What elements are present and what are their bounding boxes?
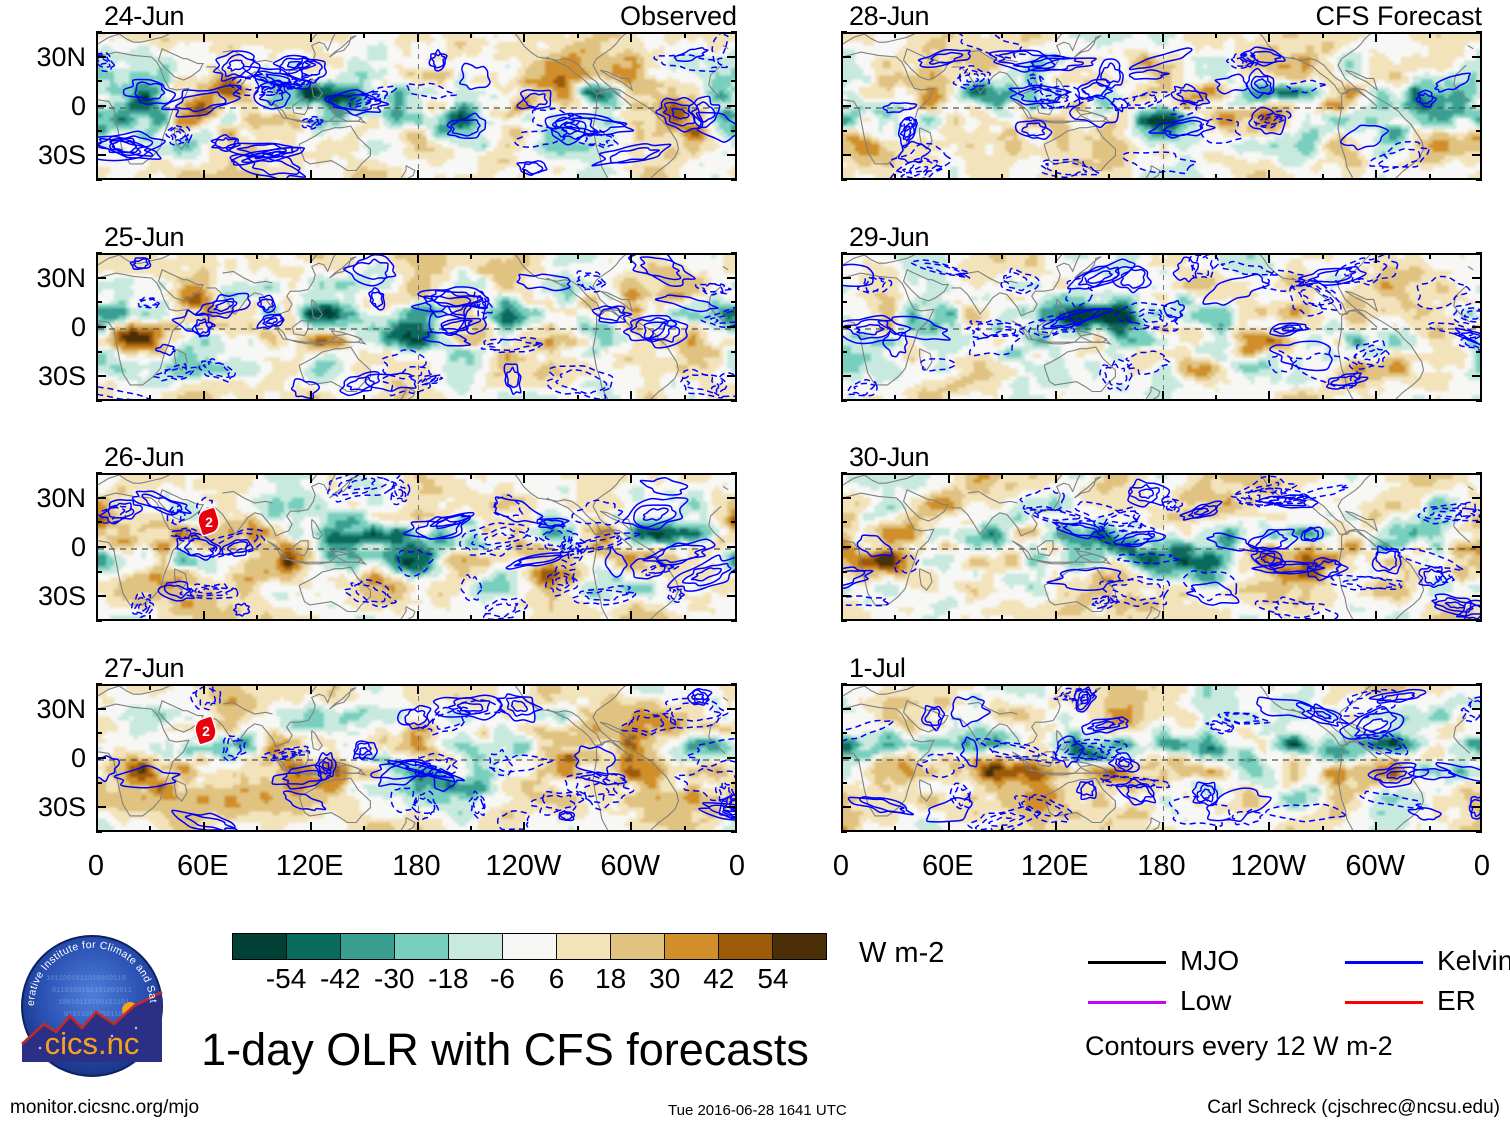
kelvin-contour <box>415 797 435 813</box>
x-axis-tick <box>1001 473 1003 479</box>
x-axis-tick <box>948 170 950 180</box>
x-axis-tick <box>470 473 472 479</box>
kelvin-contour <box>1256 113 1282 126</box>
coastline <box>223 271 273 283</box>
kelvin-contour <box>223 736 246 761</box>
x-axis-tick <box>363 32 365 38</box>
y-axis-tick <box>841 105 851 107</box>
y-axis-tick <box>1472 757 1482 759</box>
kelvin-contour <box>507 697 534 716</box>
logo-wordmark: cics.nc <box>45 1026 140 1061</box>
kelvin-contour <box>98 58 107 64</box>
kelvin-contour <box>1203 274 1269 305</box>
x-axis-tick <box>841 32 843 42</box>
footer-timestamp: Tue 2016-06-28 1641 UTC <box>668 1101 847 1120</box>
y-axis-tick <box>731 521 737 523</box>
x-axis-tick <box>1429 473 1431 479</box>
kelvin-contour <box>1379 149 1420 167</box>
x-axis-tick <box>1162 822 1164 832</box>
y-axis-tick <box>841 757 851 759</box>
x-axis-tick <box>1108 615 1110 621</box>
kelvin-contour <box>1022 797 1063 816</box>
y-axis-tick <box>96 708 106 710</box>
x-axis-tick <box>1108 826 1110 832</box>
y-axis-tick <box>727 375 737 377</box>
y-axis-tick <box>1472 154 1482 156</box>
x-axis-tick <box>149 684 151 690</box>
y-axis-tick <box>841 782 847 784</box>
kelvin-contour <box>1287 80 1326 92</box>
y-axis-label: 0 <box>0 745 86 772</box>
x-axis-tick <box>256 473 258 479</box>
y-axis-tick <box>841 351 847 353</box>
kelvin-contour <box>165 585 191 598</box>
x-axis-tick <box>470 395 472 401</box>
contour-interval-note: Contours every 12 W m-2 <box>1085 1033 1393 1060</box>
x-axis-tick <box>1375 822 1377 832</box>
coastline <box>1012 752 1110 775</box>
coastline <box>98 34 728 49</box>
footer-author: Carl Schreck (cjschrec@ncsu.edu) <box>1207 1098 1500 1117</box>
x-axis-tick <box>630 611 632 621</box>
x-axis-tick <box>1322 395 1324 401</box>
kelvin-contour <box>284 791 326 810</box>
map-panel <box>841 684 1482 832</box>
y-axis-tick <box>841 130 847 132</box>
kelvin-contour <box>1197 785 1214 802</box>
y-axis-tick <box>96 56 106 58</box>
x-axis-tick <box>577 684 579 690</box>
kelvin-contour <box>953 66 990 90</box>
x-axis-tick <box>684 615 686 621</box>
kelvin-contour <box>191 686 221 710</box>
x-axis-tick <box>417 253 419 263</box>
x-axis-tick <box>1162 611 1164 621</box>
y-axis-tick <box>727 497 737 499</box>
kelvin-contour <box>1387 771 1406 778</box>
x-axis-tick <box>96 684 98 694</box>
x-axis-tick <box>256 826 258 832</box>
kelvin-contour <box>1435 73 1470 92</box>
x-axis-tick <box>1001 395 1003 401</box>
kelvin-contour <box>360 748 369 755</box>
x-axis-tick <box>684 395 686 401</box>
coastline <box>904 270 949 301</box>
x-axis-tick <box>894 615 896 621</box>
kelvin-contour <box>687 738 737 767</box>
y-axis-tick <box>96 375 106 377</box>
kelvin-contour <box>1102 511 1136 533</box>
x-axis-tick <box>948 473 950 483</box>
column-header-observed: Observed <box>620 3 737 30</box>
x-axis-tick <box>894 253 896 259</box>
colorbar-band <box>395 934 449 959</box>
kelvin-contour <box>656 98 703 132</box>
coastline <box>98 686 728 701</box>
kelvin-contour <box>451 120 480 136</box>
x-axis-tick <box>310 253 312 263</box>
x-axis-tick <box>1215 826 1217 832</box>
kelvin-contour <box>1139 489 1153 498</box>
x-axis-tick <box>363 684 365 690</box>
kelvin-contour <box>405 709 427 724</box>
kelvin-contour <box>1417 276 1470 308</box>
x-axis-tick <box>630 473 632 483</box>
y-axis-label: 30S <box>0 583 86 610</box>
kelvin-contour <box>1127 94 1157 105</box>
y-axis-tick <box>1472 595 1482 597</box>
legend-label-mjo: MJO <box>1180 947 1239 975</box>
colorbar-tick-label: -6 <box>490 965 515 993</box>
x-axis-tick <box>1162 253 1164 263</box>
footer-url[interactable]: monitor.cicsnc.org/mjo <box>10 1098 199 1117</box>
y-axis-tick <box>1476 732 1482 734</box>
x-axis-tick <box>363 253 365 259</box>
coastline <box>159 49 204 80</box>
y-axis-tick <box>96 351 102 353</box>
x-axis-tick <box>1375 170 1377 180</box>
coastline <box>1037 541 1053 556</box>
x-axis-tick <box>1480 391 1482 401</box>
colorbar-band <box>665 934 719 959</box>
panel-date-label: 29-Jun <box>849 224 929 251</box>
panel-date-label: 24-Jun <box>104 3 184 30</box>
kelvin-contour <box>1263 116 1278 123</box>
x-axis-tick <box>1001 174 1003 180</box>
x-axis-tick <box>310 611 312 621</box>
y-axis-tick <box>841 154 851 156</box>
legend-swatch-mjo <box>1088 961 1166 964</box>
x-axis-tick <box>1375 253 1377 263</box>
y-axis-label: 30S <box>0 142 86 169</box>
y-axis-tick <box>1472 105 1482 107</box>
kelvin-contour <box>961 737 978 767</box>
kelvin-contour <box>672 109 689 119</box>
x-axis-tick <box>1322 473 1324 479</box>
x-axis-tick <box>894 174 896 180</box>
x-axis-tick <box>735 473 737 483</box>
x-axis-tick <box>1480 170 1482 180</box>
x-axis-tick <box>1215 395 1217 401</box>
kelvin-contour <box>878 316 950 340</box>
map-panel <box>841 253 1482 401</box>
coastline <box>299 347 370 391</box>
y-axis-tick <box>841 277 851 279</box>
kelvin-contour <box>1263 270 1307 291</box>
map-overlay <box>98 34 737 180</box>
kelvin-contour <box>266 318 277 324</box>
kelvin-contour <box>123 79 175 104</box>
coastline <box>1345 291 1377 311</box>
y-axis-tick <box>731 732 737 734</box>
coastline <box>904 490 949 521</box>
kelvin-contour <box>490 755 553 772</box>
x-axis-tick <box>1215 32 1217 38</box>
kelvin-contour <box>1130 48 1192 69</box>
y-axis-tick <box>96 521 102 523</box>
svg-text:0110100101101001011: 0110100101101001011 <box>52 987 132 995</box>
kelvin-contour <box>853 383 874 395</box>
y-axis-label: 30S <box>0 794 86 821</box>
kelvin-contour <box>1121 270 1145 288</box>
x-axis-tick <box>310 473 312 483</box>
kelvin-contour <box>951 697 990 727</box>
kelvin-contour <box>398 550 433 576</box>
x-axis-tick <box>523 253 525 263</box>
y-axis-tick <box>1476 130 1482 132</box>
kelvin-contour <box>655 295 718 311</box>
y-axis-tick <box>731 351 737 353</box>
x-axis-tick <box>948 391 950 401</box>
x-axis-tick <box>1322 174 1324 180</box>
x-axis-tick <box>1375 684 1377 694</box>
colorbar-band <box>557 934 611 959</box>
x-axis-tick <box>1055 473 1057 483</box>
coastline <box>1338 529 1424 621</box>
x-axis-tick <box>310 822 312 832</box>
x-axis-tick <box>523 611 525 621</box>
colorbar-tick-label: 6 <box>549 965 565 993</box>
coastline <box>98 475 728 490</box>
x-axis-tick <box>894 32 896 38</box>
coastline <box>843 686 1473 701</box>
coastline <box>292 541 308 556</box>
x-axis-tick <box>203 822 205 832</box>
kelvin-contour <box>1360 791 1424 809</box>
kelvin-contour <box>1065 743 1115 758</box>
kelvin-contour <box>1408 808 1441 820</box>
y-axis-tick <box>1472 326 1482 328</box>
x-axis-tick <box>1429 615 1431 621</box>
y-axis-tick <box>841 375 851 377</box>
column-header-forecast: CFS Forecast <box>1315 3 1482 30</box>
x-axis-tick <box>1001 615 1003 621</box>
kelvin-contour <box>1341 125 1389 149</box>
kelvin-contour <box>485 533 514 545</box>
kelvin-contour <box>139 602 147 611</box>
kelvin-contour <box>1307 708 1338 723</box>
kelvin-contour <box>517 274 570 290</box>
x-axis-tick <box>1215 684 1217 690</box>
kelvin-contour <box>640 257 680 280</box>
x-axis-tick <box>310 684 312 694</box>
x-axis-tick <box>1108 473 1110 479</box>
y-axis-tick <box>1476 782 1482 784</box>
colorbar-band <box>287 934 341 959</box>
x-axis-tick <box>577 826 579 832</box>
colorbar-tick-label: 42 <box>703 965 734 993</box>
kelvin-contour <box>643 508 668 520</box>
colorbar-tick-label: -54 <box>266 965 306 993</box>
x-axis-tick <box>1268 170 1270 180</box>
kelvin-contour <box>1261 555 1274 564</box>
coastline <box>312 730 323 750</box>
x-axis-tick <box>523 684 525 694</box>
y-axis-tick <box>1472 497 1482 499</box>
coastline <box>1012 321 1110 344</box>
y-axis-label: 0 <box>0 534 86 561</box>
coastline <box>1140 387 1160 401</box>
x-axis-tick <box>1268 391 1270 401</box>
y-axis-label: 0 <box>0 314 86 341</box>
kelvin-contour <box>1436 763 1482 781</box>
panel-date-label: 27-Jun <box>104 655 184 682</box>
y-axis-tick <box>731 571 737 573</box>
kelvin-contour <box>416 520 460 540</box>
kelvin-contour <box>1201 789 1211 798</box>
y-axis-tick <box>841 326 851 328</box>
x-axis-tick <box>310 32 312 42</box>
x-axis-tick <box>735 391 737 401</box>
coastline <box>312 299 323 319</box>
kelvin-contour <box>512 701 528 712</box>
tropical-cyclone-category: 2 <box>201 723 209 739</box>
kelvin-contour <box>1255 79 1268 88</box>
coastline <box>395 607 415 621</box>
x-axis-tick <box>149 473 151 479</box>
kelvin-contour <box>1081 782 1094 795</box>
coastline <box>952 255 1086 316</box>
kelvin-contour <box>556 576 568 586</box>
y-axis-tick <box>841 708 851 710</box>
kelvin-contour <box>1465 311 1482 319</box>
y-axis-tick <box>727 326 737 328</box>
kelvin-contour <box>1127 309 1177 327</box>
x-axis-tick <box>1162 473 1164 483</box>
legend-swatch-kelvin <box>1345 961 1423 964</box>
legend-swatch-low <box>1088 1001 1166 1004</box>
colorbar-band <box>503 934 557 959</box>
y-axis-tick <box>841 301 847 303</box>
x-axis-tick <box>1001 826 1003 832</box>
kelvin-contour <box>1221 261 1277 275</box>
coastline <box>1012 541 1110 564</box>
kelvin-contour <box>1096 521 1154 544</box>
kelvin-contour <box>654 55 727 72</box>
colorbar-band <box>449 934 503 959</box>
y-axis-tick <box>96 497 106 499</box>
x-axis-tick <box>256 395 258 401</box>
kelvin-contour <box>261 746 309 760</box>
y-axis-tick <box>841 56 851 58</box>
kelvin-contour <box>1215 74 1248 93</box>
x-axis-tick <box>1055 253 1057 263</box>
kelvin-contour <box>546 566 578 596</box>
x-axis-tick <box>1375 391 1377 401</box>
x-axis-tick <box>1108 174 1110 180</box>
svg-text:10010110100101101: 10010110100101101 <box>58 999 129 1007</box>
x-axis-tick <box>1480 822 1482 832</box>
x-axis-tick <box>256 684 258 690</box>
x-axis-tick <box>149 615 151 621</box>
x-axis-tick <box>577 395 579 401</box>
y-axis-tick <box>96 571 102 573</box>
x-axis-tick <box>1480 611 1482 621</box>
x-axis-tick <box>1268 611 1270 621</box>
x-axis-tick <box>203 32 205 42</box>
x-axis-tick <box>256 615 258 621</box>
x-axis-tick <box>96 253 98 263</box>
y-axis-tick <box>727 595 737 597</box>
x-axis-tick <box>948 684 950 694</box>
map-overlay <box>843 686 1482 832</box>
panel-date-label: 26-Jun <box>104 444 184 471</box>
x-axis-tick <box>1162 391 1164 401</box>
x-axis-tick <box>577 473 579 479</box>
kelvin-contour <box>515 129 569 147</box>
map-panel <box>96 253 737 401</box>
kelvin-contour <box>214 301 233 311</box>
y-axis-label: 0 <box>0 93 86 120</box>
x-axis-tick <box>1108 395 1110 401</box>
kelvin-contour <box>199 359 235 382</box>
kelvin-contour <box>543 795 575 810</box>
x-axis-tick <box>363 395 365 401</box>
x-axis-tick <box>841 822 843 832</box>
kelvin-contour <box>556 370 607 394</box>
y-axis-tick <box>96 782 102 784</box>
coastline <box>299 778 370 822</box>
y-axis-tick <box>841 732 847 734</box>
kelvin-contour <box>572 500 622 525</box>
x-axis-tick <box>1055 611 1057 621</box>
kelvin-contour <box>1189 506 1217 518</box>
kelvin-contour <box>458 703 483 711</box>
colorbar-tick-label: 18 <box>595 965 626 993</box>
x-axis-tick <box>1375 611 1377 621</box>
kelvin-contour <box>1419 93 1432 103</box>
kelvin-contour <box>460 523 538 556</box>
x-axis-tick <box>1322 826 1324 832</box>
legend-label-er: ER <box>1437 987 1476 1015</box>
coastline <box>312 78 323 98</box>
x-axis-tick <box>1480 473 1482 483</box>
y-axis-tick <box>727 806 737 808</box>
x-axis-tick <box>894 826 896 832</box>
kelvin-contour <box>1130 485 1160 503</box>
coastline <box>207 475 341 536</box>
y-axis-tick <box>727 56 737 58</box>
kelvin-contour <box>1376 551 1396 570</box>
coastline <box>1345 511 1377 531</box>
x-axis-tick <box>841 684 843 694</box>
x-axis-tick <box>96 473 98 483</box>
coastline <box>600 70 632 90</box>
x-axis-tick <box>203 684 205 694</box>
x-axis-tick <box>256 174 258 180</box>
kelvin-contour <box>392 485 406 500</box>
x-axis-tick <box>1215 174 1217 180</box>
y-axis-tick <box>1476 80 1482 82</box>
coastline <box>843 34 1473 49</box>
kelvin-contour <box>927 798 972 822</box>
x-axis-tick <box>630 822 632 832</box>
x-axis-tick <box>470 826 472 832</box>
y-axis-tick <box>727 154 737 156</box>
kelvin-contour <box>198 589 222 594</box>
x-axis-tick <box>684 174 686 180</box>
kelvin-contour <box>585 590 628 600</box>
x-axis-tick <box>948 611 950 621</box>
x-axis-tick <box>96 170 98 180</box>
map-overlay <box>843 34 1482 180</box>
kelvin-contour <box>395 489 403 497</box>
kelvin-contour <box>461 575 481 601</box>
x-axis-tick <box>363 473 365 479</box>
map-panel: 2 <box>96 684 737 832</box>
x-axis-tick <box>1429 684 1431 690</box>
y-axis-tick <box>841 521 847 523</box>
